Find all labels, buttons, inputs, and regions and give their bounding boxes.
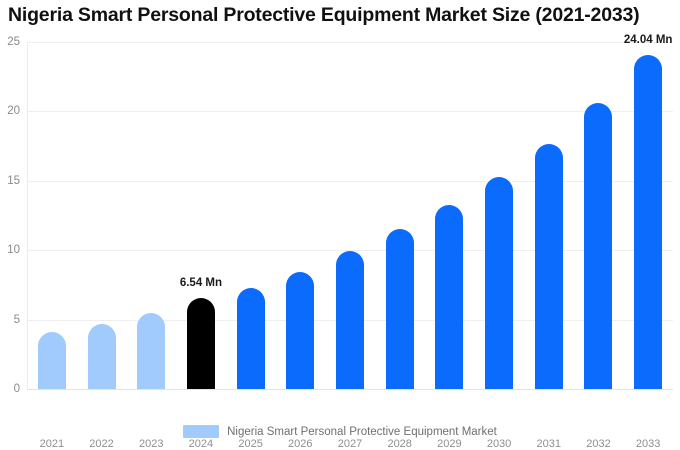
x-axis-tick-label: 2022 [89, 438, 113, 450]
legend-item[interactable]: Nigeria Smart Personal Protective Equipm… [183, 425, 497, 438]
bar[interactable] [286, 272, 314, 389]
x-axis-tick-label: 2023 [139, 438, 163, 450]
bar-value-label: 24.04 Mn [624, 34, 673, 46]
bar[interactable] [435, 205, 463, 389]
plot-area: 0510152025 6.54 Mn24.04 Mn 2021202220232… [27, 42, 673, 389]
y-axis-tick-label: 15 [7, 175, 20, 187]
x-axis-line [27, 389, 673, 390]
bar[interactable] [485, 177, 513, 390]
bar[interactable] [634, 55, 662, 389]
bar[interactable] [584, 103, 612, 389]
gridline [27, 181, 673, 182]
y-axis-tick-label: 20 [7, 105, 20, 117]
chart-legend: Nigeria Smart Personal Protective Equipm… [0, 425, 680, 438]
gridline [27, 111, 673, 112]
bar[interactable] [88, 324, 116, 389]
legend-label: Nigeria Smart Personal Protective Equipm… [227, 426, 497, 438]
y-axis-line [27, 42, 28, 389]
x-axis-tick-label: 2021 [40, 438, 64, 450]
bar-value-label: 6.54 Mn [180, 277, 222, 289]
bar[interactable] [535, 144, 563, 389]
x-axis-tick-label: 2028 [387, 438, 411, 450]
gridline [27, 42, 673, 43]
chart-container: Nigeria Smart Personal Protective Equipm… [0, 0, 680, 450]
x-axis-tick-label: 2031 [537, 438, 561, 450]
x-axis-tick-label: 2026 [288, 438, 312, 450]
bar[interactable] [336, 251, 364, 389]
chart-title: Nigeria Smart Personal Protective Equipm… [8, 4, 672, 27]
x-axis-tick-label: 2032 [586, 438, 610, 450]
y-axis-tick-label: 25 [7, 36, 20, 48]
bar[interactable] [187, 298, 215, 389]
bar[interactable] [386, 229, 414, 389]
x-axis-tick-label: 2024 [189, 438, 213, 450]
x-axis-tick-label: 2025 [238, 438, 262, 450]
y-axis-tick-label: 5 [14, 314, 20, 326]
bar[interactable] [137, 313, 165, 389]
bar[interactable] [38, 332, 66, 389]
x-axis-tick-label: 2029 [437, 438, 461, 450]
y-axis-tick-label: 10 [7, 244, 20, 256]
x-axis-tick-label: 2033 [636, 438, 660, 450]
x-axis-tick-label: 2027 [338, 438, 362, 450]
bar[interactable] [237, 288, 265, 389]
legend-swatch [183, 425, 219, 438]
y-axis-tick-label: 0 [14, 383, 20, 395]
x-axis-tick-label: 2030 [487, 438, 511, 450]
